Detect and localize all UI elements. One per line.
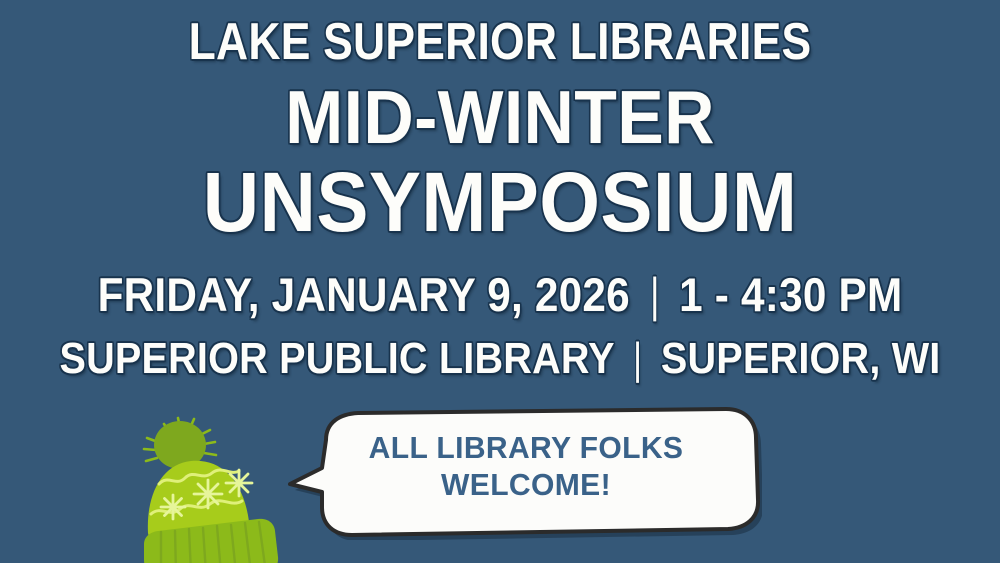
event-location-line: SUPERIOR PUBLIC LIBRARY|SUPERIOR, WI bbox=[50, 337, 950, 381]
event-title-line-1: MID-WINTER bbox=[35, 80, 965, 155]
event-datetime-line: FRIDAY, JANUARY 9, 2026|1 - 4:30 PM bbox=[50, 271, 950, 318]
speech-bubble: ALL LIBRARY FOLKS WELCOME! bbox=[282, 404, 762, 540]
bubble-message: ALL LIBRARY FOLKS WELCOME! bbox=[332, 430, 720, 503]
winter-hat-illustration bbox=[118, 398, 293, 563]
organization-title: LAKE SUPERIOR LIBRARIES bbox=[73, 16, 928, 68]
location-separator: | bbox=[630, 337, 646, 381]
event-date: FRIDAY, JANUARY 9, 2026 bbox=[98, 268, 630, 321]
event-time: 1 - 4:30 PM bbox=[679, 268, 902, 321]
winter-hat-icon bbox=[118, 398, 293, 563]
bubble-message-line-2: WELCOME! bbox=[332, 467, 720, 504]
event-venue: SUPERIOR PUBLIC LIBRARY bbox=[59, 334, 614, 383]
event-city-state: SUPERIOR, WI bbox=[661, 334, 941, 383]
snowflake bbox=[161, 495, 185, 519]
datetime-separator: | bbox=[646, 271, 663, 318]
event-title-line-2: UNSYMPOSIUM bbox=[35, 160, 965, 244]
snowflake bbox=[226, 470, 252, 496]
bubble-message-line-1: ALL LIBRARY FOLKS bbox=[332, 430, 720, 467]
event-poster: LAKE SUPERIOR LIBRARIES MID-WINTER UNSYM… bbox=[0, 0, 1000, 563]
snowflake bbox=[194, 480, 222, 508]
